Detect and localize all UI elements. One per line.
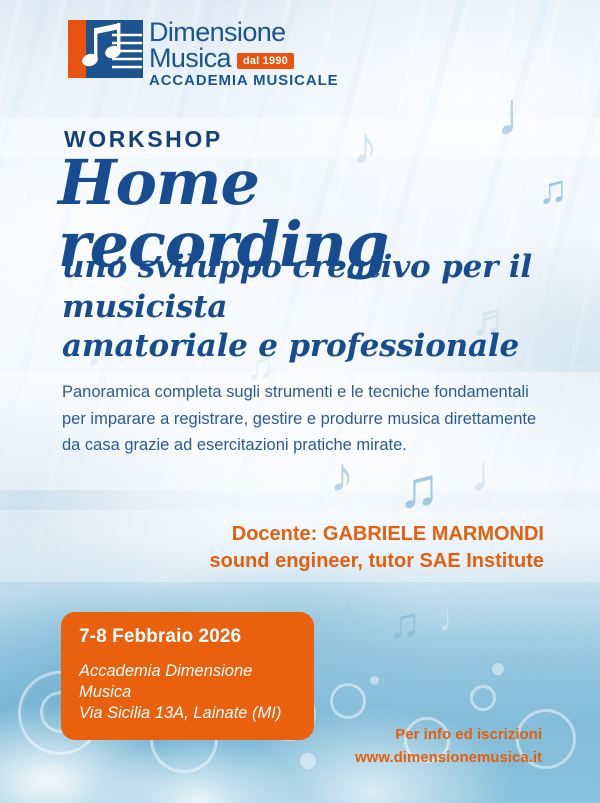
event-details-box: 7-8 Febbraio 2026 Accademia Dimensione M… (61, 612, 314, 740)
music-note-staff-logo-icon (68, 18, 143, 80)
music-note-icon: ♪ (330, 452, 354, 500)
poster-canvas: ♩ ♪ ♫ ♬ ♪ ♫ ♩ ♪ ♫ ♩ ♪ ♫ (0, 0, 600, 803)
event-date: 7-8 Febbraio 2026 (79, 626, 296, 648)
footer-info-label: Per info ed iscrizioni (355, 724, 542, 747)
music-note-icon: ♫ (398, 460, 440, 516)
event-venue-line-1: Accademia Dimensione Musica (79, 661, 296, 703)
music-note-icon: ♫ (388, 602, 421, 646)
footer-contact[interactable]: Per info ed iscrizioni www.dimensionemus… (355, 724, 542, 769)
page-subtitle-line-2: amatoriale e professionale (62, 327, 582, 367)
page-subtitle: uno sviluppo creativo per il musicista a… (62, 248, 582, 367)
music-note-icon: ♩ (496, 84, 558, 146)
brand-logo[interactable]: Dimensione Musica dal 1990 ACCADEMIA MUS… (68, 18, 333, 89)
since-badge: dal 1990 (237, 53, 294, 69)
footer-website-link[interactable]: www.dimensionemusica.it (355, 747, 542, 770)
teacher-block: Docente: GABRIELE MARMONDI sound enginee… (210, 521, 544, 575)
logo-line-2: Musica (149, 46, 231, 72)
page-subtitle-line-1: uno sviluppo creativo per il musicista (62, 248, 582, 327)
teacher-role: sound engineer, tutor SAE Institute (210, 548, 544, 575)
event-venue-line-2: Via Sicilia 13A, Lainate (MI) (79, 703, 296, 724)
music-note-icon: ♪ (336, 590, 356, 630)
event-venue: Accademia Dimensione Musica Via Sicilia … (79, 661, 296, 724)
description-paragraph: Panoramica completa sugli strumenti e le… (62, 379, 542, 459)
music-note-icon: ♩ (438, 600, 476, 638)
logo-subtitle: ACCADEMIA MUSICALE (149, 73, 339, 89)
teacher-name: Docente: GABRIELE MARMONDI (210, 521, 544, 548)
